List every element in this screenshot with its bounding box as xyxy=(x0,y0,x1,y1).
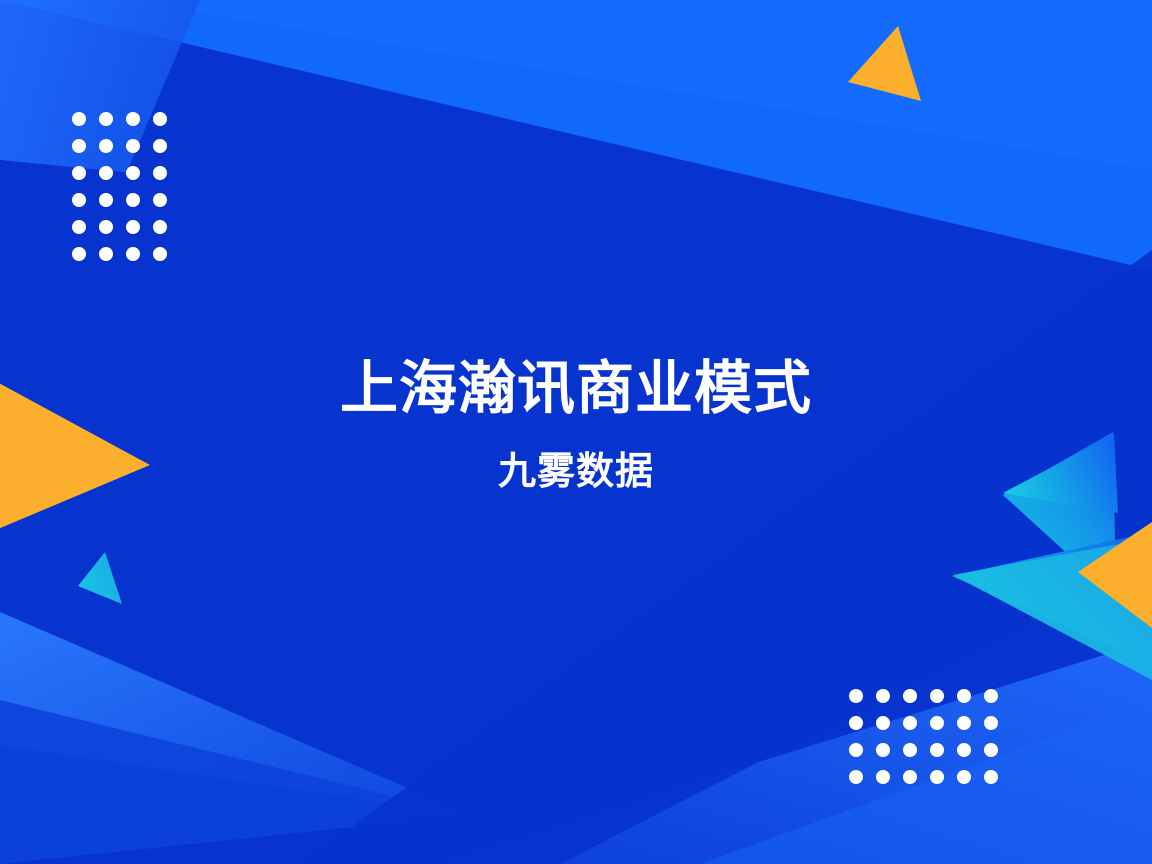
dot xyxy=(126,247,140,261)
dot xyxy=(126,193,140,207)
dot xyxy=(72,112,86,126)
dot xyxy=(876,743,890,757)
dot xyxy=(72,247,86,261)
dot xyxy=(849,689,863,703)
dot-grid-top-left xyxy=(72,112,167,261)
dot xyxy=(930,689,944,703)
dot xyxy=(957,743,971,757)
dot xyxy=(984,716,998,730)
dot xyxy=(849,743,863,757)
dot xyxy=(99,247,113,261)
dot xyxy=(126,220,140,234)
dot xyxy=(153,247,167,261)
title-slide: 上海瀚讯商业模式 九雾数据 xyxy=(0,0,1152,864)
dot-grid-bottom-right xyxy=(849,689,998,784)
dot xyxy=(903,770,917,784)
dot xyxy=(903,743,917,757)
dot xyxy=(153,139,167,153)
slide-subtitle: 九雾数据 xyxy=(0,450,1152,494)
dot xyxy=(930,716,944,730)
dot xyxy=(153,193,167,207)
dot xyxy=(984,743,998,757)
dot xyxy=(99,220,113,234)
dot xyxy=(153,166,167,180)
dot xyxy=(876,770,890,784)
dot xyxy=(903,689,917,703)
dot xyxy=(876,689,890,703)
dot xyxy=(99,112,113,126)
title-text-block: 上海瀚讯商业模式 九雾数据 xyxy=(0,355,1152,494)
dot xyxy=(72,139,86,153)
dot xyxy=(984,770,998,784)
dot xyxy=(957,716,971,730)
dot xyxy=(126,166,140,180)
slide-title: 上海瀚讯商业模式 xyxy=(0,355,1152,422)
dot xyxy=(957,689,971,703)
dot xyxy=(903,716,917,730)
dot xyxy=(984,689,998,703)
dot xyxy=(153,112,167,126)
dot xyxy=(72,193,86,207)
dot xyxy=(930,743,944,757)
dot xyxy=(876,716,890,730)
dot xyxy=(153,220,167,234)
dot xyxy=(72,220,86,234)
dot xyxy=(957,770,971,784)
dot xyxy=(126,139,140,153)
dot xyxy=(849,716,863,730)
dot xyxy=(99,193,113,207)
dot xyxy=(930,770,944,784)
dot xyxy=(849,770,863,784)
dot xyxy=(99,166,113,180)
dot xyxy=(72,166,86,180)
dot xyxy=(99,139,113,153)
dot xyxy=(126,112,140,126)
